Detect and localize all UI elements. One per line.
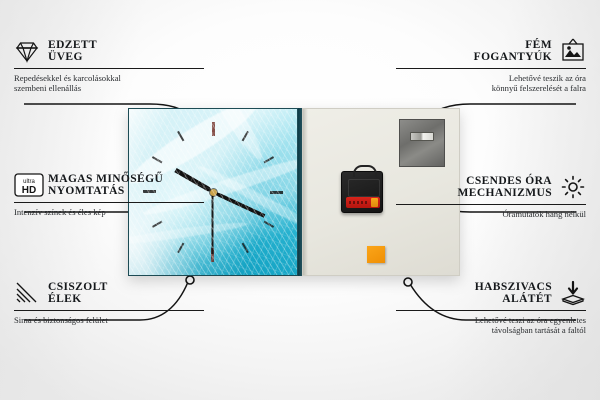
- callout-title-line1: FÉM: [474, 39, 552, 52]
- callout-title-line1: MAGAS MINŐSÉGŰ: [48, 173, 163, 186]
- callout-title-line1: EDZETT: [48, 39, 97, 52]
- gear-icon: [560, 174, 586, 200]
- clock-second-hand: [212, 192, 214, 254]
- ultra-hd-icon-bottom: HD: [22, 185, 36, 196]
- callout-polished-edges: CSISZOLT ÉLEK Sima és biztonságos felüle…: [14, 280, 204, 325]
- battery-part: [346, 197, 380, 208]
- callout-subtitle-line1: Sima és biztonságos felület: [14, 315, 204, 325]
- picture-hanger-icon: [560, 38, 586, 64]
- callout-rule: [396, 68, 586, 69]
- callout-subtitle-line2: szembeni ellenállás: [14, 83, 204, 93]
- callout-title-line1: CSENDES ÓRA: [458, 175, 553, 188]
- callout-high-quality-print: ultra HD MAGAS MINŐSÉGŰ NYOMTATÁS Intenz…: [14, 172, 204, 217]
- foam-pad-icon: [560, 280, 586, 306]
- foam-pad-part: [367, 246, 385, 263]
- callout-rule: [14, 310, 204, 311]
- callout-title-line1: HABSZIVACS: [475, 281, 552, 294]
- callout-rule: [396, 310, 586, 311]
- callout-title-line1: CSISZOLT: [48, 281, 108, 294]
- callout-title-line2: ÉLEK: [48, 293, 108, 306]
- callout-tempered-glass: EDZETT ÜVEG Repedésekkel és karcolásokka…: [14, 38, 204, 94]
- callout-subtitle-line2: könnyű felszerelését a falra: [396, 83, 586, 93]
- callout-foam-pad: HABSZIVACS ALÁTÉT Lehetővé teszi az óra …: [396, 280, 586, 336]
- callout-rule: [14, 202, 204, 203]
- callout-subtitle-line1: Óramutatók hang nélkül: [396, 209, 586, 219]
- ultra-hd-icon: ultra HD: [14, 172, 40, 198]
- polished-edge-icon: [14, 280, 40, 306]
- metal-hanger-part: [399, 119, 445, 167]
- callout-subtitle-line1: Intenzív színek és éles kép: [14, 207, 204, 217]
- callout-subtitle-line2: távolságban tartását a faltól: [396, 325, 586, 335]
- callout-title-line2: FOGANTYÚK: [474, 51, 552, 64]
- callout-title-line2: MECHANIZMUS: [458, 187, 553, 200]
- callout-rule: [14, 68, 204, 69]
- clock-center-pin: [210, 189, 217, 196]
- callout-metal-handles: FÉM FOGANTYÚK Lehetővé teszik az óra kön…: [396, 38, 586, 94]
- callout-title-line2: ÜVEG: [48, 51, 97, 64]
- mechanism-seam: [348, 179, 380, 197]
- infographic-canvas: EDZETT ÜVEG Repedésekkel és karcolásokka…: [0, 0, 600, 400]
- callout-title-line2: NYOMTATÁS: [48, 185, 163, 198]
- callout-silent-mechanism: CSENDES ÓRA MECHANIZMUS Óramutatók hang …: [396, 174, 586, 219]
- mechanism-loop: [353, 165, 377, 177]
- callout-title-line2: ALÁTÉT: [475, 293, 552, 306]
- callout-rule: [396, 204, 586, 205]
- clock-minute-hand: [212, 190, 265, 218]
- diamond-icon: [14, 38, 40, 64]
- callout-subtitle-line1: Repedésekkel és karcolásokkal: [14, 73, 204, 83]
- callout-subtitle-line1: Lehetővé teszik az óra: [396, 73, 586, 83]
- callout-subtitle-line1: Lehetővé teszi az óra egyenletes: [396, 315, 586, 325]
- clock-mechanism-part: [341, 171, 383, 213]
